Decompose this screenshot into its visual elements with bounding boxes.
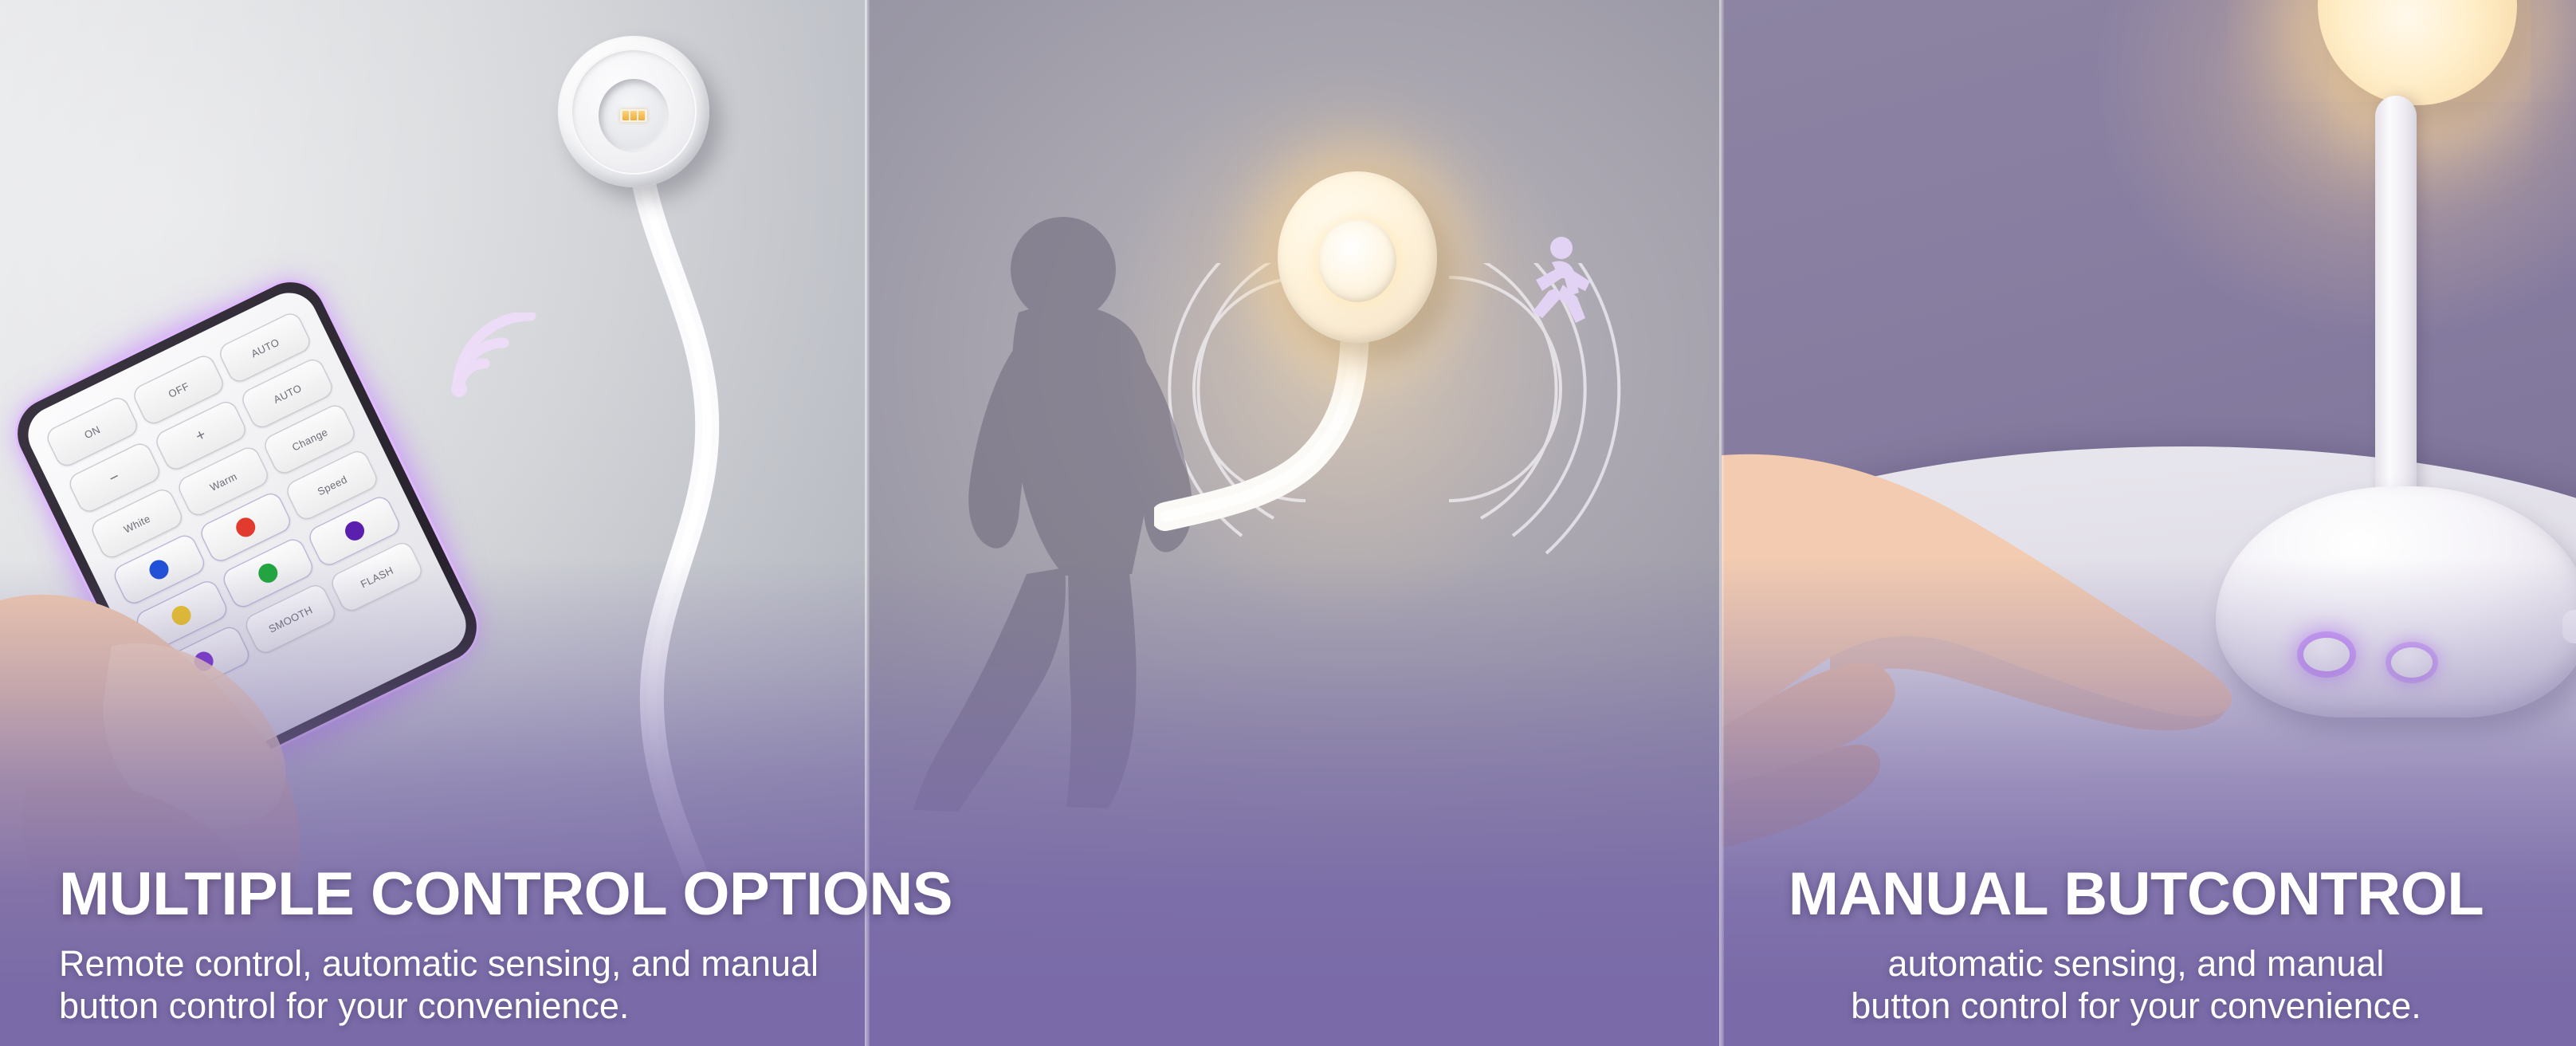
caption-left-line1: Remote control, automatic sensing, and m… [59,942,952,985]
caption-left-title: MULTIPLE CONTROL OPTIONS [59,864,952,925]
product-feature-banner: ON OFF AUTO − + AUTO White Warm Change [0,0,2576,1046]
sensor-light [1278,171,1437,343]
wall-puck-light [558,36,709,187]
led-chip [630,111,637,120]
wifi-signal-icon [445,313,556,400]
plus-icon: + [193,427,209,445]
led-chip [638,111,645,120]
caption-right: MANUAL BUTCONTROL automatic sensing, and… [1712,864,2560,1027]
caption-right-line1: automatic sensing, and manual [1712,942,2560,985]
sensor-lamp-gooseneck [1154,319,1457,582]
puck-lens [599,79,669,152]
caption-right-body: automatic sensing, and manual button con… [1712,942,2560,1027]
caption-left: MULTIPLE CONTROL OPTIONS Remote control,… [59,864,952,1027]
caption-layer: MULTIPLE CONTROL OPTIONS Remote control,… [0,783,2576,1046]
led-chip-strip [620,109,647,122]
pedestrian-icon [1517,235,1604,331]
caption-left-body: Remote control, automatic sensing, and m… [59,942,952,1027]
sensor-dome [1318,219,1396,302]
caption-right-title: MANUAL BUTCONTROL [1712,864,2560,925]
glowing-mode-button[interactable] [2391,647,2433,678]
lamp-stem [2375,96,2417,510]
led-chip [622,111,629,120]
caption-left-line2: button control for your convenience. [59,985,952,1027]
usb-cable [2562,586,2576,682]
caption-right-line2: button control for your convenience. [1712,985,2560,1027]
lamp-cable [550,140,821,881]
puck-outer-ring [571,49,697,175]
